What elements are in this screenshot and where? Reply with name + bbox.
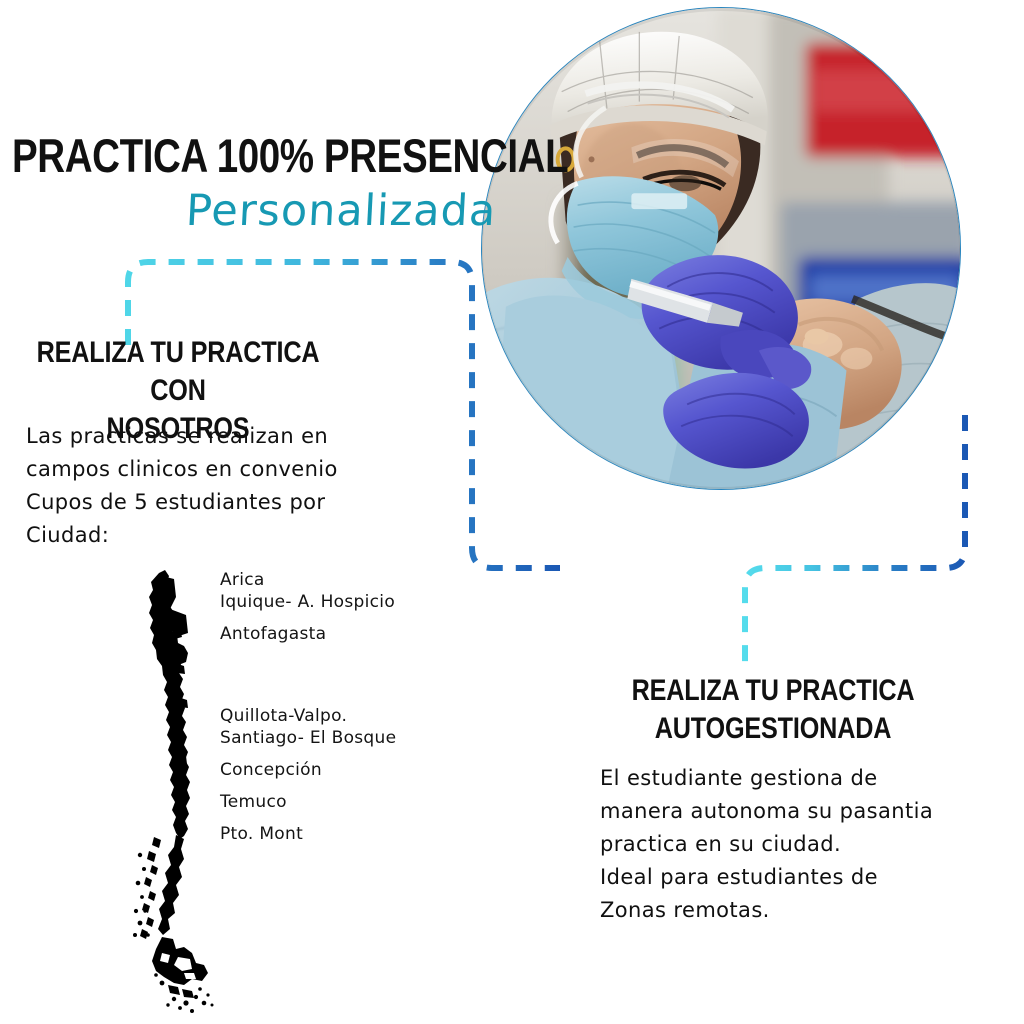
page-title: PRACTICA 100% PRESENCIAL [12, 132, 438, 181]
right-section-body: El estudiante gestiona de manera autonom… [600, 762, 980, 927]
right-body-line-4: Ideal para estudiantes de [600, 861, 980, 894]
left-title-line-1: REALIZA TU PRACTICA CON [37, 336, 320, 407]
city-item: Iquique- A. Hospicio [220, 592, 450, 612]
city-item: Santiago- El Bosque [220, 728, 450, 748]
left-body-line-2: campos clinicos en convenio [26, 453, 386, 486]
right-section-title: REALIZA TU PRACTICA AUTOGESTIONADA [628, 672, 919, 748]
city-item: Antofagasta [220, 624, 450, 644]
city-list: Arica Iquique- A. Hospicio Antofagasta Q… [220, 570, 450, 844]
left-body-line-1: Las practicas se realizan en [26, 420, 386, 453]
city-item: Concepción [220, 760, 450, 780]
right-body-line-1: El estudiante gestiona de [600, 762, 980, 795]
city-item: Arica [220, 570, 450, 590]
page-subtitle: Personalizada [185, 186, 498, 236]
left-body-line-4: Ciudad: [26, 519, 386, 552]
right-body-line-2: manera autonoma su pasantia [600, 795, 980, 828]
right-title-line-2: AUTOGESTIONADA [655, 712, 892, 745]
city-item: Pto. Mont [220, 824, 450, 844]
left-section-body: Las practicas se realizan en campos clin… [26, 420, 386, 552]
poster-canvas: PRACTICA 100% PRESENCIAL Personalizada R… [0, 0, 1024, 1024]
left-body-line-3: Cupos de 5 estudiantes por [26, 486, 386, 519]
right-title-line-1: REALIZA TU PRACTICA [632, 674, 915, 707]
city-item: Temuco [220, 792, 450, 812]
city-item: Quillota-Valpo. [220, 706, 450, 726]
right-body-line-3: practica en su ciudad. [600, 828, 980, 861]
clinic-photo [481, 7, 961, 490]
chile-map [118, 567, 228, 1017]
right-body-line-5: Zonas remotas. [600, 894, 980, 927]
